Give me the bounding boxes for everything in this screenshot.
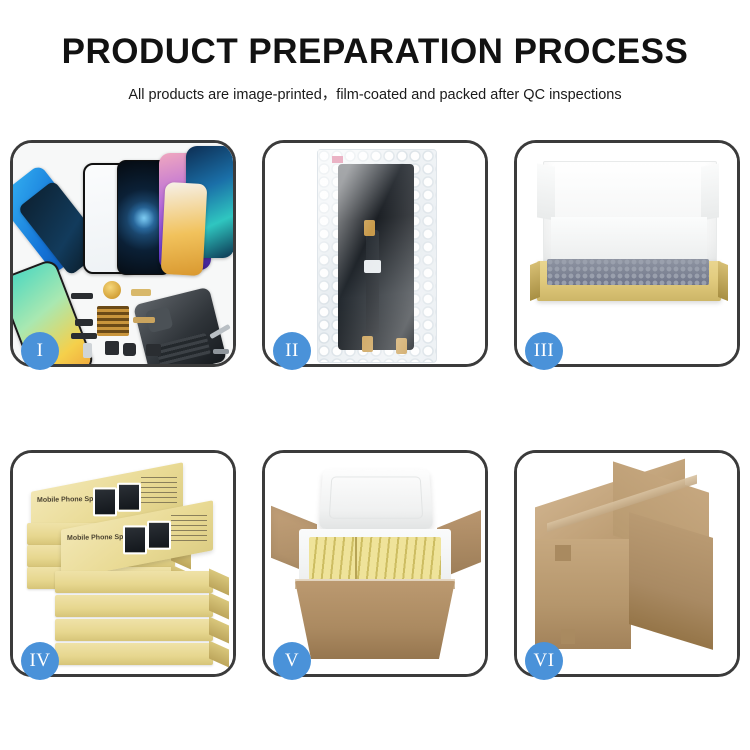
white-foam-sheet-icon <box>551 217 707 263</box>
box-screen-thumb-icon <box>93 487 117 516</box>
box-side-face <box>209 617 229 644</box>
part-chip-icon <box>75 319 93 326</box>
lcd-driver-ic-icon <box>364 260 381 273</box>
carton-seam-tab-icon <box>555 545 571 561</box>
flex-cable-icon <box>131 289 151 296</box>
panel-image-3 <box>517 143 737 364</box>
part-chip-icon <box>105 341 119 355</box>
box-screen-thumb-icon <box>117 483 141 512</box>
lcd-flex-cable-icon <box>366 230 379 334</box>
carton-styrofoam-scene <box>265 453 485 674</box>
process-step-panel-5: V <box>262 450 488 677</box>
carton-seam-tab-icon <box>561 629 575 644</box>
process-step-panel-2: II <box>262 140 488 367</box>
step-badge-2: II <box>273 332 311 370</box>
sim-tray-icon <box>83 343 92 358</box>
box-screen-thumb-icon <box>147 521 171 550</box>
open-box-foam-scene <box>517 143 737 364</box>
panel-image-1 <box>13 143 233 364</box>
gold-phone-icon <box>161 182 208 276</box>
panel-image-2 <box>265 143 485 364</box>
panel-image-5 <box>265 453 485 674</box>
box-flap-left-icon <box>537 163 555 220</box>
stacked-boxes-scene: Mobile Phone Spare Parts Mobile Phone Sp… <box>13 453 233 674</box>
step-badge-4: IV <box>21 642 59 680</box>
process-step-panel-1: I <box>10 140 236 367</box>
step-badge-5: V <box>273 642 311 680</box>
retail-box-side-6 <box>55 619 213 641</box>
sealed-carton-scene <box>517 453 737 674</box>
box-flap-right-icon <box>701 163 719 220</box>
adhesive-tab-icon <box>364 220 375 236</box>
retail-box-side-7 <box>55 643 213 665</box>
panel-image-4: Mobile Phone Spare Parts Mobile Phone Sp… <box>13 453 233 674</box>
box-screen-thumb-icon <box>123 525 147 554</box>
styrofoam-lid-icon <box>319 469 433 529</box>
bubble-wrap-bag-icon <box>317 149 437 363</box>
flex-cable-icon <box>133 317 155 323</box>
camera-module-icon <box>123 343 136 356</box>
part-chip-icon <box>146 344 161 356</box>
panel-image-6 <box>517 453 737 674</box>
dark-foam-padding-icon <box>547 259 709 285</box>
step-badge-1: I <box>21 332 59 370</box>
adhesive-tab-icon <box>396 338 407 354</box>
carton-front-face-icon <box>535 539 631 649</box>
box-spec-lines-icon <box>141 477 177 505</box>
pink-qc-sticker-icon <box>332 156 343 163</box>
step-badge-6: VI <box>525 642 563 680</box>
box-side-face <box>209 641 229 668</box>
page-subtitle: All products are image-printed，film-coat… <box>0 83 750 104</box>
process-steps-grid: I <box>10 140 740 677</box>
header: PRODUCT PREPARATION PROCESS All products… <box>0 34 750 104</box>
box-side-face <box>209 569 229 596</box>
retail-box-side-4 <box>55 571 213 593</box>
box-side-face <box>209 593 229 620</box>
process-step-panel-6: VI <box>514 450 740 677</box>
tweezers-icon <box>213 349 229 354</box>
page-title: PRODUCT PREPARATION PROCESS <box>0 34 750 71</box>
process-step-panel-4: Mobile Phone Spare Parts Mobile Phone Sp… <box>10 450 236 677</box>
box-spec-lines-icon <box>171 515 207 543</box>
connector-grid-icon <box>97 306 129 336</box>
process-step-panel-3: III <box>514 140 740 367</box>
adhesive-tab-icon <box>362 336 373 352</box>
part-chip-icon <box>71 293 93 299</box>
product-preparation-infographic: PRODUCT PREPARATION PROCESS All products… <box>0 0 750 750</box>
speaker-coil-icon <box>103 281 121 299</box>
phone-parts-scene <box>13 143 233 364</box>
step-badge-3: III <box>525 332 563 370</box>
part-chip-icon <box>71 333 97 339</box>
box-stack: Mobile Phone Spare Parts Mobile Phone Sp… <box>25 471 225 661</box>
lcd-screen-icon <box>338 164 414 350</box>
carton-body-icon <box>295 581 455 659</box>
packed-yellow-boxes-icon <box>309 537 441 583</box>
retail-box-side-5 <box>55 595 213 617</box>
bubble-wrap-scene <box>265 143 485 364</box>
